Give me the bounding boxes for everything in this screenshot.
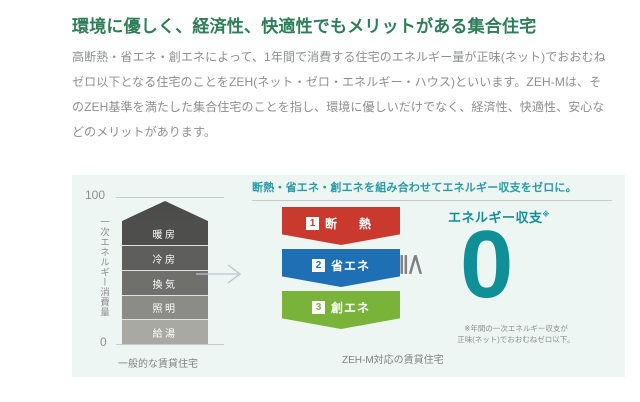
energy-balance-footnote: ※年間の一次エネルギー収支が 正味(ネット)でおおむねゼロ以下。 [436,323,596,345]
footnote-line-1: ※年間の一次エネルギー収支が [464,324,568,333]
step-label-insulation: 断 熱 [325,215,376,232]
step-number-1: 1 [306,217,319,230]
zeh-infographic: 100 0 一次エネルギー消費量 暖房 冷房 換気 照明 給湯 一般的な賃貸住宅… [72,175,625,377]
chart-caption-standard-housing: 一般的な賃貸住宅 [118,355,198,370]
step-label-energy-saving: 省エネ [331,257,370,274]
axis-tick-line-top [116,197,224,198]
measures-chevron-stack: 1 断 熱 2 省エネ 3 創エネ [282,207,400,333]
measure-step-insulation: 1 断 熱 [282,207,400,245]
measure-step-energy-saving: 2 省エネ [282,249,400,287]
arrow-right-icon [196,263,244,285]
heading-divider [252,200,612,201]
measure-step-energy-creation: 3 創エネ [282,291,400,329]
intro-paragraph: 高断熱・省エネ・創エネによって、1年間で消費する住宅のエネルギー量が正味(ネット… [72,45,612,145]
energy-balance-note-marker: ※ [543,212,550,219]
step-label-energy-creation: 創エネ [331,299,370,316]
step-number-2: 2 [312,259,325,272]
bar-segment-hotwater: 給湯 [122,320,208,344]
measures-heading: 断熱・省エネ・創エネを組み合わせてエネルギー収支をゼロに。 [252,179,577,195]
energy-balance-value: 0 [460,217,513,313]
chart-caption-zehm-housing: ZEH-M対応の賃貸住宅 [342,351,444,366]
axis-tick-line-bottom [116,344,224,345]
axis-tick-bottom: 0 [100,335,107,349]
intro-paragraph-text: 高断熱・省エネ・創エネによって、1年間で消費する住宅のエネルギー量が正味(ネット… [72,45,612,145]
y-axis-label: 一次エネルギー消費量 [94,217,110,317]
footnote-line-2: 正味(ネット)でおおむねゼロ以下。 [457,335,575,344]
bar-segment-heating: 暖房 [122,221,208,246]
step-number-3: 3 [312,301,325,314]
axis-tick-top: 100 [85,188,105,202]
less-than-or-equal-icon: ≦ [395,252,430,277]
bar-segment-lighting: 照明 [122,296,208,320]
page-title: 環境に優しく、経済性、快適性でもメリットがある集合住宅 [72,12,536,37]
house-roof-icon [122,201,208,221]
